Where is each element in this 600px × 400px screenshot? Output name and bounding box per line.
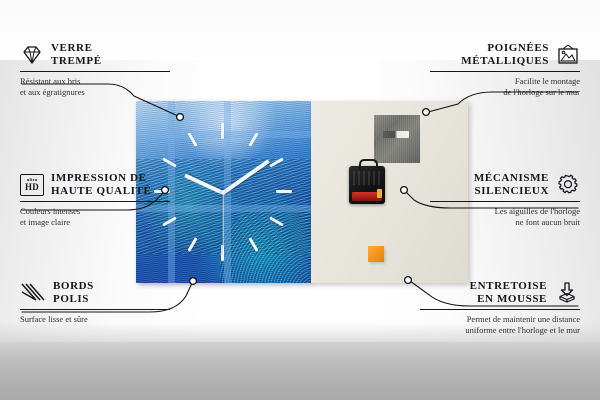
callout-header: ultra HD IMPRESSION DE HAUTE QUALITÉ — [20, 172, 170, 198]
diamond-icon — [20, 45, 44, 65]
callout-title: MÉCANISME SILENCIEUX — [474, 172, 549, 198]
callout-title: VERRE TREMPÉ — [51, 42, 102, 68]
callout-verre-trempe[interactable]: VERRE TREMPÉ Résistant aux bris et aux é… — [20, 42, 170, 97]
callout-subtitle: Surface lisse et sûre — [20, 314, 170, 325]
callout-entretoise-en-mousse[interactable]: ENTRETOISE EN MOUSSE Permet de maintenir… — [420, 280, 580, 335]
clock-second-hand — [222, 193, 223, 255]
clock-tick-3 — [276, 190, 292, 193]
picture-frame-icon — [556, 44, 580, 66]
handle-keyhole-slot — [383, 131, 409, 138]
foam-spacer-icon — [554, 281, 580, 305]
battery — [352, 192, 382, 201]
callout-header: VERRE TREMPÉ — [20, 42, 170, 68]
callout-subtitle: Couleurs intenses et image claire — [20, 206, 170, 227]
callout-header: ENTRETOISE EN MOUSSE — [420, 280, 580, 306]
callout-header: MÉCANISME SILENCIEUX — [430, 172, 580, 198]
callout-impression-haute-qualite[interactable]: ultra HD IMPRESSION DE HAUTE QUALITÉ Cou… — [20, 172, 170, 227]
mechanism-hanger-loop — [359, 159, 378, 170]
callout-title: POIGNÉES MÉTALLIQUES — [461, 42, 549, 68]
polished-edges-icon — [20, 282, 46, 304]
gear-icon — [556, 173, 580, 197]
callout-divider — [420, 309, 580, 310]
callout-title: ENTRETOISE EN MOUSSE — [470, 280, 547, 306]
callout-subtitle: Facilite le montage de l'horloge sur le … — [430, 76, 580, 97]
mechanism-texture — [353, 171, 381, 185]
metal-handle-plate — [374, 115, 420, 163]
callout-divider — [20, 201, 170, 202]
metal-grain — [374, 115, 420, 163]
clock-tick-12 — [221, 123, 224, 139]
callout-poignees-metalliques[interactable]: POIGNÉES MÉTALLIQUES Facilite le montage… — [430, 42, 580, 97]
callout-divider — [430, 201, 580, 202]
clock-center-hub — [221, 190, 226, 195]
callout-divider — [20, 71, 170, 72]
callout-subtitle: Résistant aux bris et aux égratignures — [20, 76, 170, 97]
product-image — [136, 101, 468, 283]
callout-subtitle: Permet de maintenir une distance uniform… — [420, 314, 580, 335]
callout-header: BORDS POLIS — [20, 280, 170, 306]
callout-header: POIGNÉES MÉTALLIQUES — [430, 42, 580, 68]
ultra-hd-icon: ultra HD — [20, 174, 44, 196]
callout-subtitle: Les aiguilles de l'horloge ne font aucun… — [430, 206, 580, 227]
callout-divider — [20, 309, 170, 310]
callout-bords-polis[interactable]: BORDS POLIS Surface lisse et sûre — [20, 280, 170, 325]
background-bottom-band — [0, 342, 600, 400]
callout-mecanisme-silencieux[interactable]: MÉCANISME SILENCIEUX Les aiguilles de l'… — [430, 172, 580, 227]
callout-title: BORDS POLIS — [53, 280, 94, 306]
infographic-canvas: VERRE TREMPÉ Résistant aux bris et aux é… — [0, 0, 600, 400]
foam-spacer — [368, 246, 384, 262]
callout-title: IMPRESSION DE HAUTE QUALITÉ — [51, 172, 151, 198]
callout-divider — [430, 71, 580, 72]
clock-mechanism — [349, 166, 385, 204]
battery-plus-terminal — [377, 189, 382, 198]
